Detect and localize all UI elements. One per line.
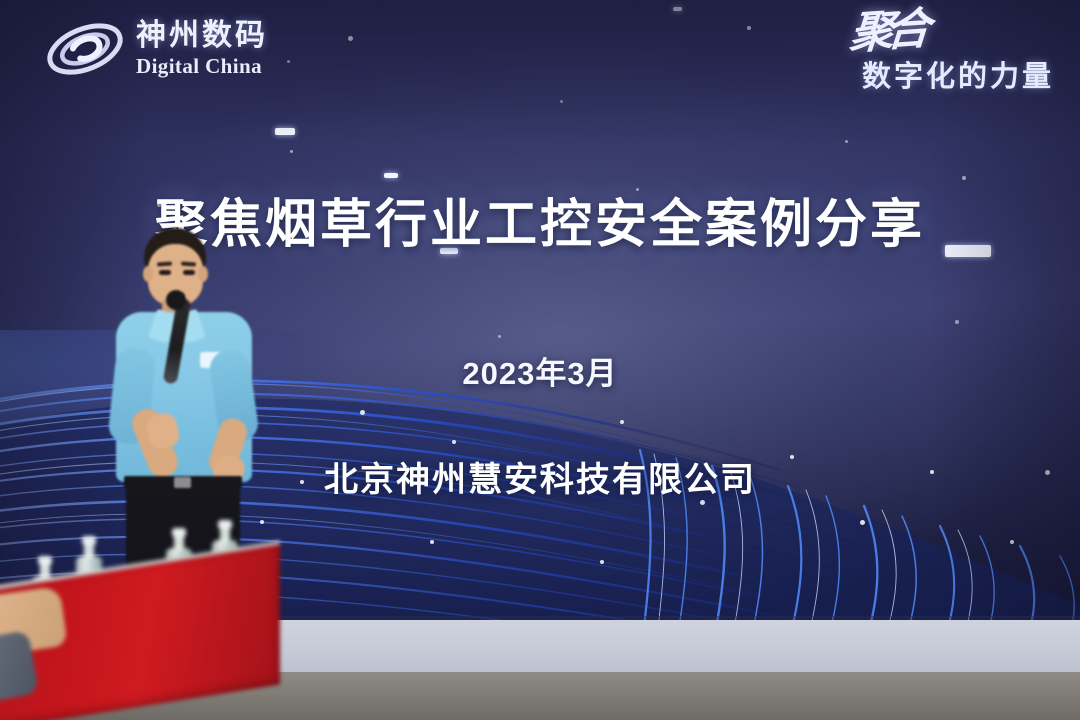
speaker-eye-right — [183, 270, 195, 275]
brand-logo: 神州数码 Digital China — [44, 18, 268, 80]
event-slogan: 聚合 数字化的力量 — [850, 14, 1054, 95]
slogan-subtitle: 数字化的力量 — [850, 53, 1054, 95]
brand-name-en: Digital China — [136, 56, 268, 77]
speaker-belt-buckle — [174, 477, 191, 488]
conference-stage-photo: 神州数码 Digital China 聚合 数字化的力量 聚焦烟草行业工控安全案… — [0, 0, 1080, 720]
speaker-ear-left — [143, 266, 153, 282]
brand-name-cn: 神州数码 — [136, 21, 268, 51]
speaker-ear-right — [198, 266, 208, 282]
digital-china-swoosh-icon — [44, 18, 126, 80]
speaker-eye-left — [159, 270, 171, 275]
slogan-calligraphy: 聚合 — [848, 12, 923, 53]
